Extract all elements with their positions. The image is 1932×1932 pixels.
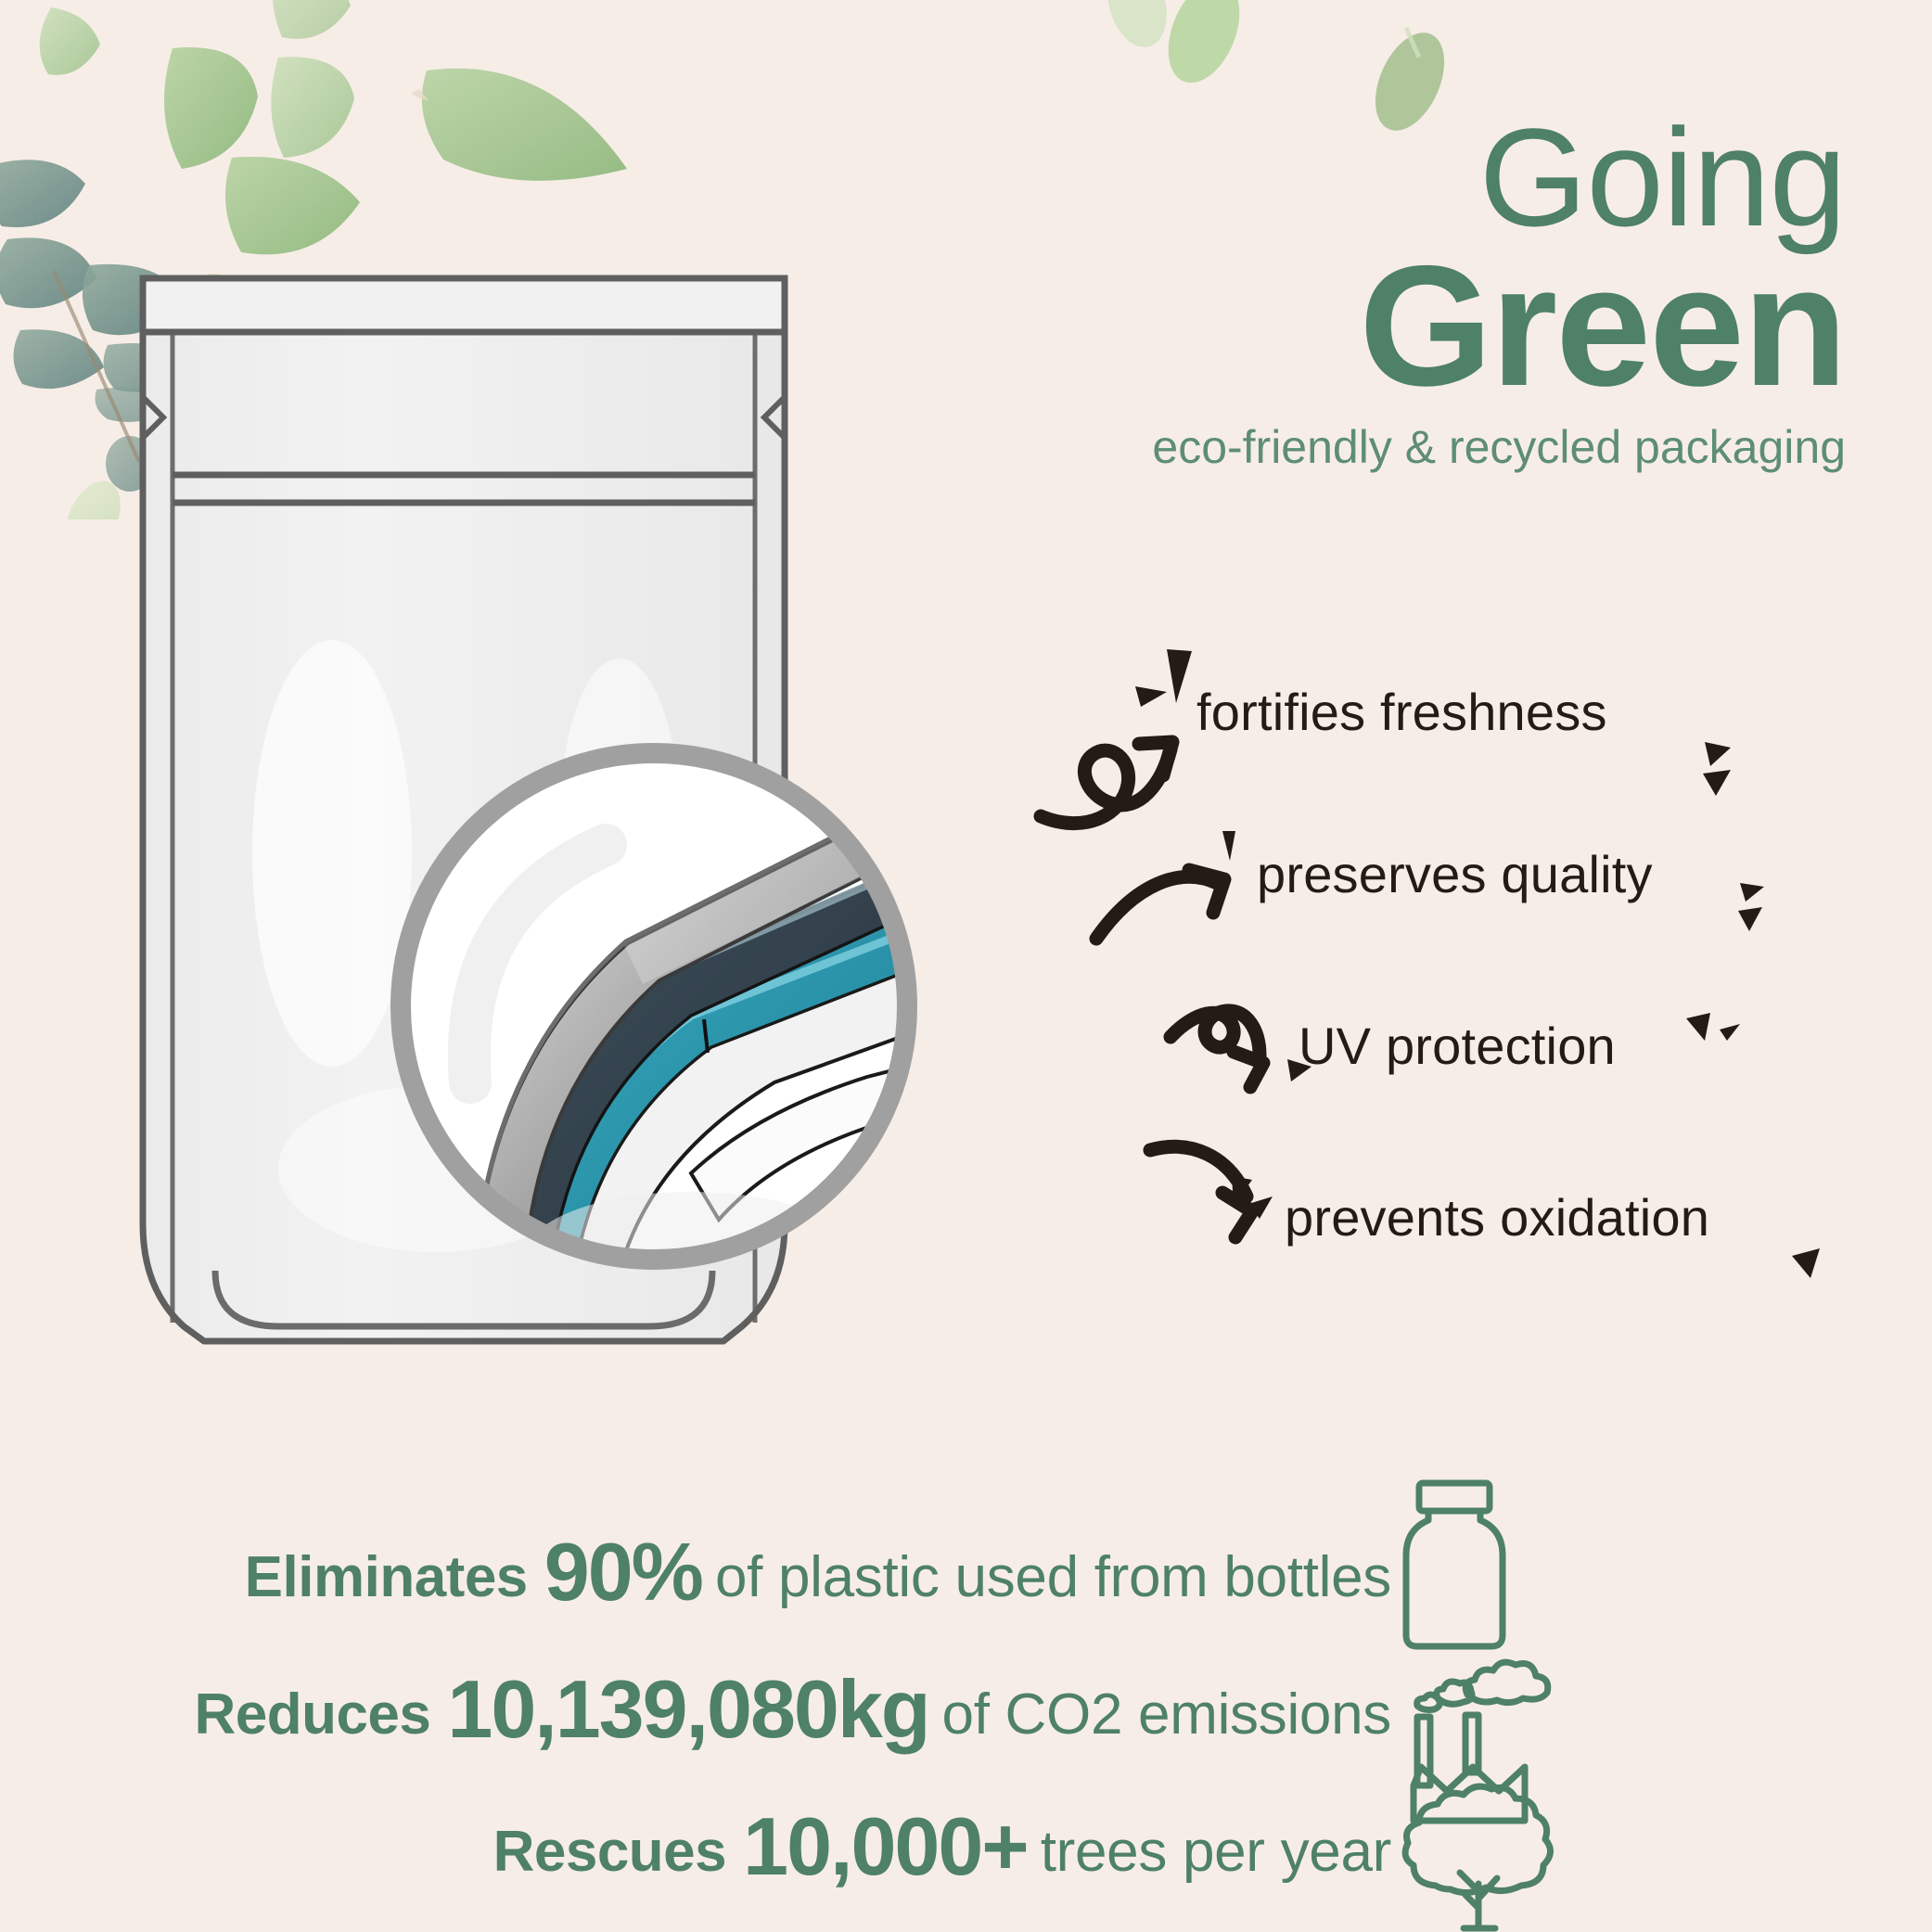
sparkle-icon-8 xyxy=(1686,1013,1710,1041)
headline-line-2: Green xyxy=(1067,248,1846,405)
poster-canvas: Going Green eco-friendly & recycled pack… xyxy=(0,0,1932,1932)
curve-arrow-head-icon-2 xyxy=(1189,870,1224,913)
magnified-layer-cross-section xyxy=(385,737,923,1275)
sparkle-icon-4 xyxy=(1703,770,1731,796)
sparkle-icon-1 xyxy=(1167,649,1192,703)
sparkle-icon-2 xyxy=(1135,686,1167,707)
sparkle-icon-7 xyxy=(1738,907,1762,931)
stat-value-trees: 10,000+ xyxy=(743,1799,1028,1894)
stat-value-plastic: 90% xyxy=(544,1525,702,1619)
sparkle-icon-12 xyxy=(1248,1196,1273,1219)
stat-icons-group xyxy=(1382,1479,1623,1932)
stat-row-trees: Rescues 10,000+ trees per year xyxy=(167,1796,1391,1932)
curve-arrow-head-icon-4 xyxy=(1222,1193,1252,1237)
stat-tail-plastic: of plastic used from bottles xyxy=(715,1544,1391,1610)
loop-arrow-icon xyxy=(1171,1011,1260,1056)
curl-arrow-icon xyxy=(1041,749,1171,824)
feature-label-uv-protection: UV protection xyxy=(1299,1016,1616,1076)
bottle-icon xyxy=(1406,1483,1503,1646)
magnifier-svg xyxy=(385,737,923,1275)
tree-icon xyxy=(1405,1786,1550,1928)
sparkle-icon-3 xyxy=(1705,742,1731,766)
stat-value-co2: 10,139,080kg xyxy=(447,1662,928,1757)
stat-tail-co2: of CO2 emissions xyxy=(942,1682,1391,1747)
loop-arrow-head-icon xyxy=(1234,1052,1263,1087)
feature-label-preserves-quality: preserves quality xyxy=(1257,844,1653,904)
sparkle-icon-5 xyxy=(1222,831,1235,861)
feature-label-fortifies-freshness: fortifies freshness xyxy=(1196,682,1607,742)
feature-label-prevents-oxidation: prevents oxidation xyxy=(1285,1187,1709,1247)
sparkle-icon-6 xyxy=(1740,883,1764,902)
factory-icon xyxy=(1414,1662,1548,1821)
headline-block: Going Green eco-friendly & recycled pack… xyxy=(1067,111,1846,473)
sparkle-icon-9 xyxy=(1720,1024,1740,1041)
curl-arrow-head-icon xyxy=(1139,742,1172,775)
stat-lead-trees: Rescues xyxy=(493,1819,727,1885)
stat-row-plastic: Eliminates 90% of plastic used from bott… xyxy=(167,1521,1391,1658)
stat-lead-co2: Reduces xyxy=(194,1682,430,1747)
stat-lead-plastic: Eliminates xyxy=(245,1544,528,1610)
stat-tail-trees: trees per year xyxy=(1041,1819,1391,1885)
stat-row-co2: Reduces 10,139,080kg of CO2 emissions xyxy=(167,1658,1391,1796)
stats-block: Eliminates 90% of plastic used from bott… xyxy=(167,1521,1391,1932)
curve-arrow-icon-4 xyxy=(1150,1146,1247,1196)
headline-tagline: eco-friendly & recycled packaging xyxy=(1067,422,1846,473)
sparkle-icon-11 xyxy=(1232,1176,1252,1206)
sparkle-icon-13 xyxy=(1792,1248,1820,1278)
pouch-top-seal xyxy=(143,278,785,332)
headline-line-1: Going xyxy=(1067,111,1846,244)
curve-arrow-icon-2 xyxy=(1096,876,1217,939)
